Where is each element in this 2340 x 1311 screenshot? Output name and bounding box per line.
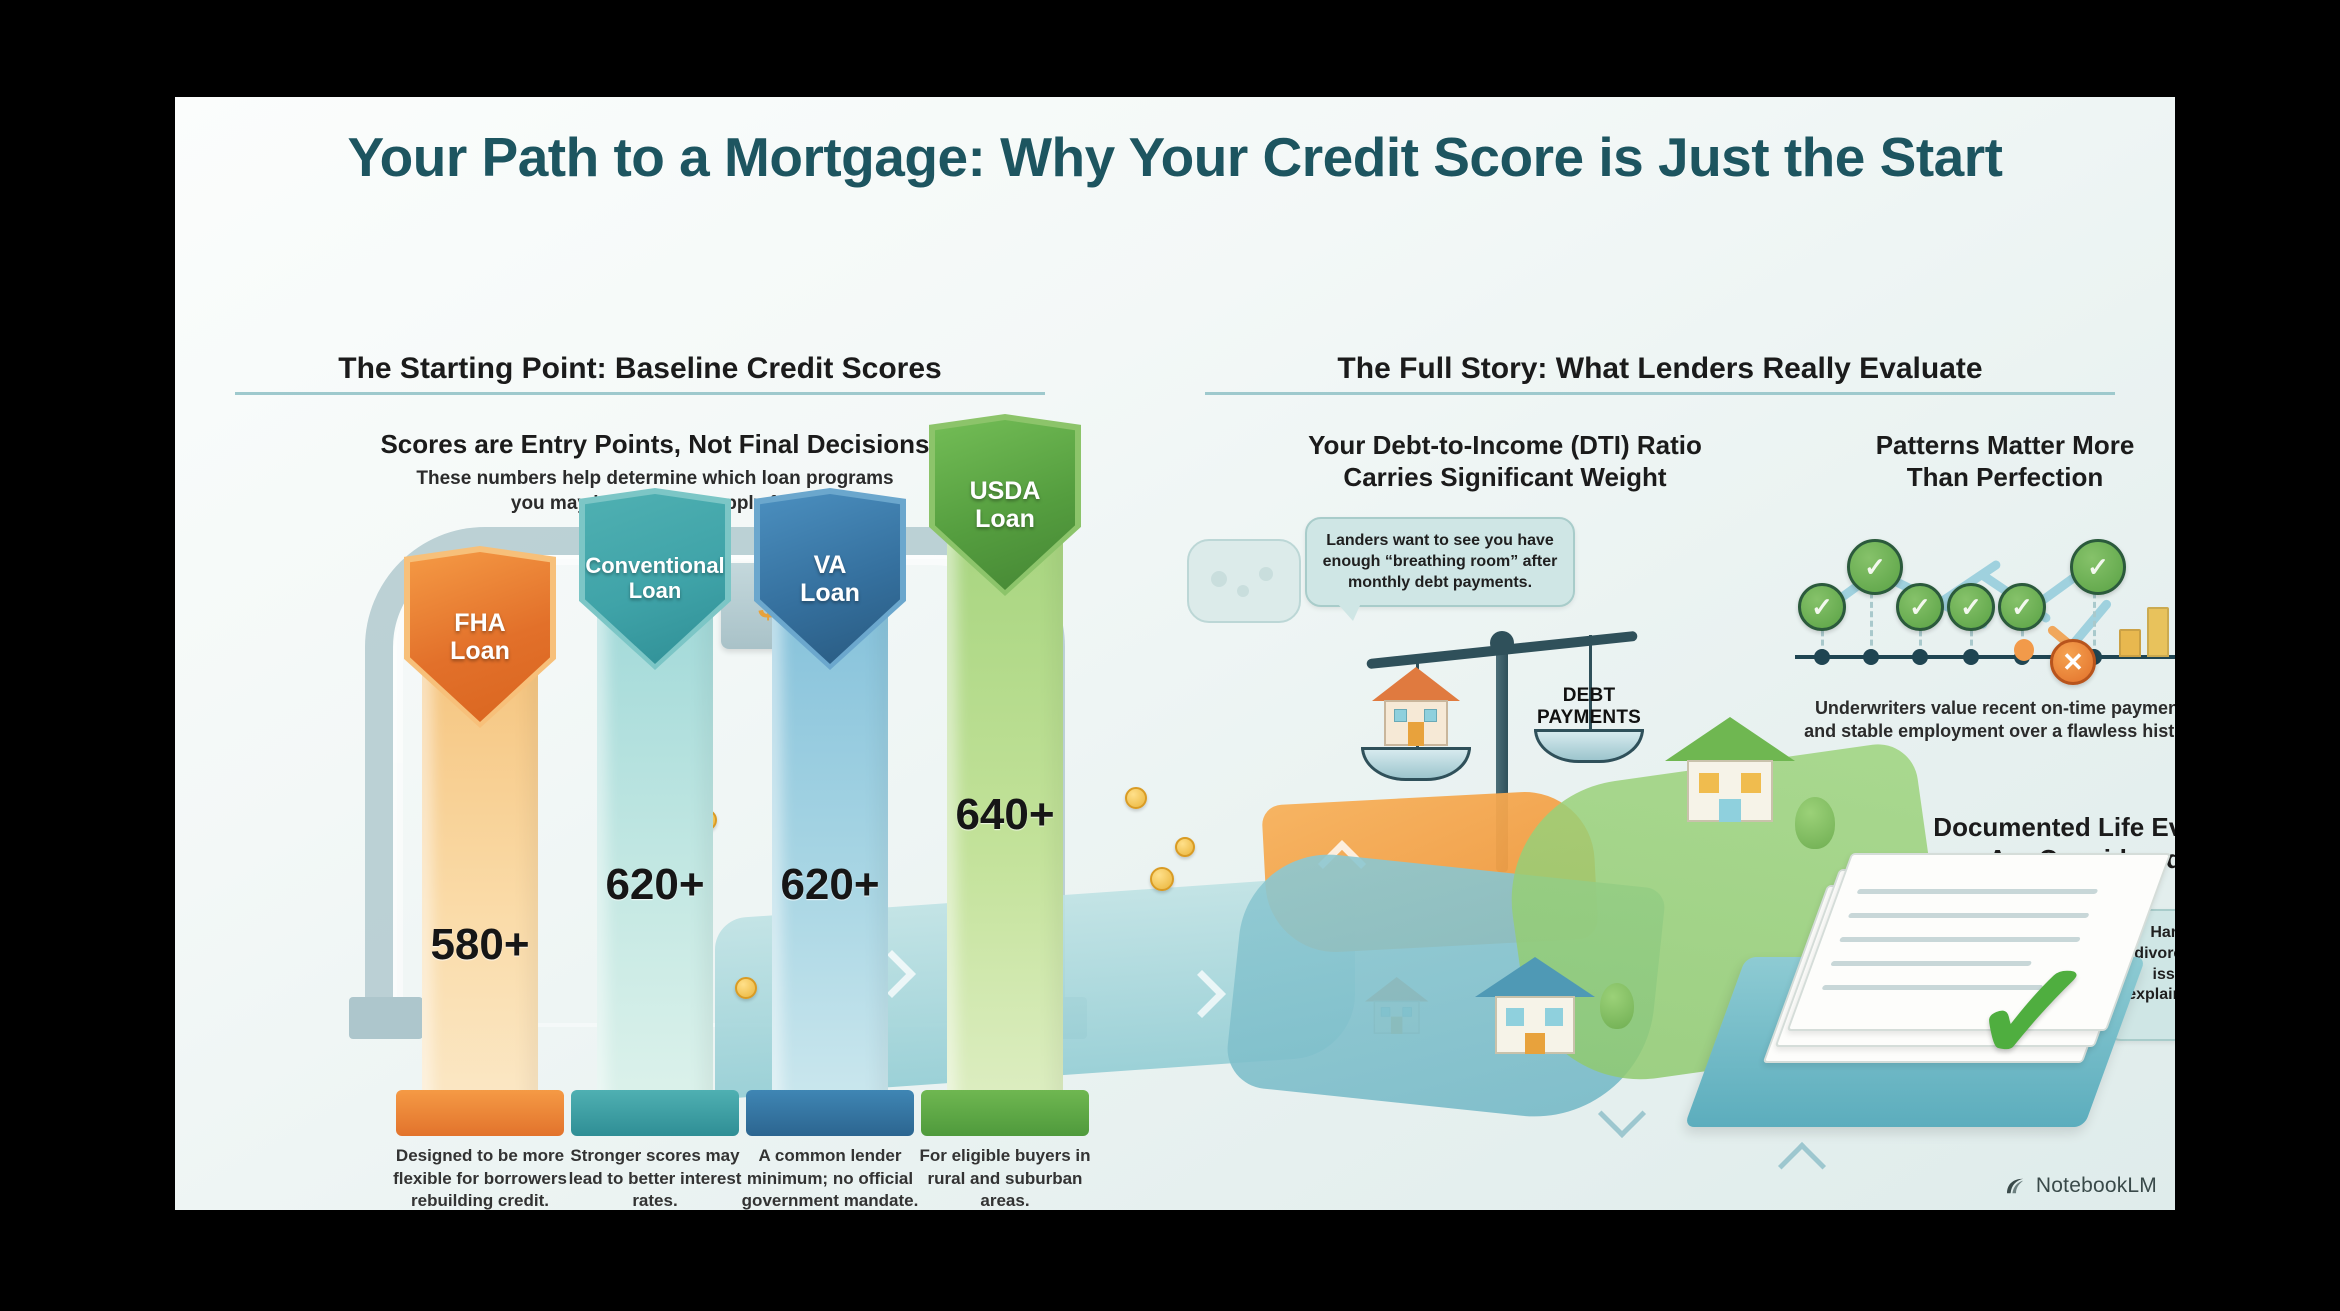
loan-pillar-conventional: Conventional Loan 620+ Stronger scores m… <box>555 520 755 1210</box>
dti-callout-bubble: Landers want to see you have enough “bre… <box>1305 517 1575 607</box>
document-line <box>1856 889 2098 894</box>
left-subhead: Scores are Entry Points, Not Final Decis… <box>295 429 1015 461</box>
connector-arrow-icon <box>1598 1090 1646 1138</box>
green-house-icon <box>1665 717 1795 827</box>
tree-icon <box>1795 797 1835 849</box>
section-heading-left-text: The Starting Point: Baseline Credit Scor… <box>338 352 941 385</box>
loan-score-fha: 580+ <box>430 920 529 970</box>
patterns-caption-line1: Underwriters value recent on-time paymen… <box>1755 697 2175 720</box>
pillar-base <box>921 1090 1089 1136</box>
shield-label-line1: VA <box>814 551 847 579</box>
timeline-dot <box>1814 649 1830 665</box>
coin-icon <box>1150 867 1174 891</box>
timeline-dot <box>1912 649 1928 665</box>
balance-scale-pivot <box>1490 631 1514 655</box>
trend-bar <box>2147 607 2169 657</box>
section-heading-right: The Full Story: What Lenders Really Eval… <box>1205 352 2115 395</box>
house-window <box>1699 773 1719 793</box>
house-roof <box>1475 957 1595 997</box>
balance-pan-right <box>1534 729 1644 763</box>
dti-subhead-line2: Carries Significant Weight <box>1195 462 1815 494</box>
timeline-dot <box>1863 649 1879 665</box>
pillar-base <box>571 1090 739 1136</box>
green-check-icon: ✓ <box>1963 931 2104 1093</box>
balance-pan-left <box>1361 747 1471 781</box>
loan-pillar-fha: FHA Loan 580+ Designed to be more flexib… <box>380 520 580 1210</box>
house-roof <box>1665 717 1795 761</box>
house-window <box>1506 1008 1524 1026</box>
section-rule-left <box>235 392 1045 395</box>
coin-icon <box>1125 787 1147 809</box>
loan-note-usda: For eligible buyers in rural and suburba… <box>910 1145 1100 1210</box>
screenshot-stage: Your Path to a Mortgage: Why Your Credit… <box>0 0 2340 1311</box>
on-time-check-icon: ✓ <box>2070 539 2126 595</box>
on-time-check-icon: ✓ <box>1998 583 2046 631</box>
house-window <box>1545 1008 1563 1026</box>
patterns-subhead-line1: Patterns Matter More <box>1815 430 2175 462</box>
loan-note-conventional: Stronger scores may lead to better inter… <box>560 1145 750 1210</box>
loan-score-va: 620+ <box>780 860 879 910</box>
shield-label-line1: FHA <box>454 609 505 637</box>
house-window <box>1741 773 1761 793</box>
document-line <box>1848 913 2090 918</box>
section-heading-right-text: The Full Story: What Lenders Really Eval… <box>1337 352 1982 385</box>
on-time-check-icon: ✓ <box>1896 583 1944 631</box>
shield-label-line2: Loan <box>450 637 510 665</box>
loan-pillar-usda: USDA Loan 640+ For eligible buyers in ru… <box>905 520 1105 1210</box>
shield-label-line1: Conventional <box>585 553 724 578</box>
house-door <box>1525 1033 1545 1054</box>
shield-label-line2: Loan <box>629 578 682 603</box>
loan-pillar-va: VA Loan 620+ A common lender minimum; no… <box>730 520 930 1210</box>
cloud-dot <box>1237 585 1249 597</box>
thought-cloud-icon <box>1187 539 1301 623</box>
cloud-dot <box>1211 571 1227 587</box>
section-heading-left: The Starting Point: Baseline Credit Scor… <box>235 352 1045 395</box>
scale-label-line2: PAYMENTS <box>1519 707 1659 729</box>
notebooklm-icon <box>2005 1177 2027 1195</box>
coin-icon <box>1175 837 1195 857</box>
house-window <box>1424 709 1437 722</box>
loan-note-va: A common lender minimum; no official gov… <box>735 1145 925 1210</box>
life-events-subhead-line1: Documented Life Events <box>1875 812 2175 844</box>
section-rule-right <box>1205 392 2115 395</box>
connector-arrow-icon <box>1778 1142 1826 1190</box>
loan-note-fha: Designed to be more flexible for borrowe… <box>385 1145 575 1210</box>
on-time-check-icon: ✓ <box>1798 583 1846 631</box>
house-roof <box>1372 667 1460 701</box>
timeline-axis <box>1795 655 2175 659</box>
loan-score-usda: 640+ <box>955 790 1054 840</box>
shield-label-line2: Loan <box>800 579 860 607</box>
pillar-base <box>746 1090 914 1136</box>
loan-score-conventional: 620+ <box>605 860 704 910</box>
timeline-dot <box>1963 649 1979 665</box>
blue-house-icon <box>1475 957 1595 1057</box>
house-window <box>1394 709 1407 722</box>
house-door <box>1719 799 1741 822</box>
cloud-dot <box>1259 567 1273 581</box>
shield-label-line2: Loan <box>975 505 1035 533</box>
trend-bar <box>2119 629 2141 657</box>
missed-payment-x-icon: ✕ <box>2050 639 2096 685</box>
pillar-base <box>396 1090 564 1136</box>
scale-label-line1: DEBT <box>1529 685 1649 707</box>
payment-history-timeline-chart: ✓ ✓ ✓ ✓ ✓ ✓ ✕ <box>1795 517 2175 692</box>
on-time-check-icon: ✓ <box>1847 539 1903 595</box>
house-door <box>1408 722 1424 746</box>
missed-payment-dot <box>2014 639 2034 661</box>
page-title: Your Path to a Mortgage: Why Your Credit… <box>175 125 2175 189</box>
shield-label-line1: USDA <box>970 477 1041 505</box>
notebooklm-watermark: NotebookLM <box>2005 1174 2157 1198</box>
infographic-canvas: Your Path to a Mortgage: Why Your Credit… <box>175 97 2175 1210</box>
watermark-label: NotebookLM <box>2036 1174 2157 1198</box>
patterns-subhead-line2: Than Perfection <box>1815 462 2175 494</box>
tree-icon <box>1600 983 1634 1029</box>
on-time-check-icon: ✓ <box>1947 583 1995 631</box>
patterns-caption-line2: and stable employment over a flawless hi… <box>1755 720 2175 743</box>
left-subbody-line1: These numbers help determine which loan … <box>295 467 1015 491</box>
dti-subhead-line1: Your Debt-to-Income (DTI) Ratio <box>1195 430 1815 462</box>
